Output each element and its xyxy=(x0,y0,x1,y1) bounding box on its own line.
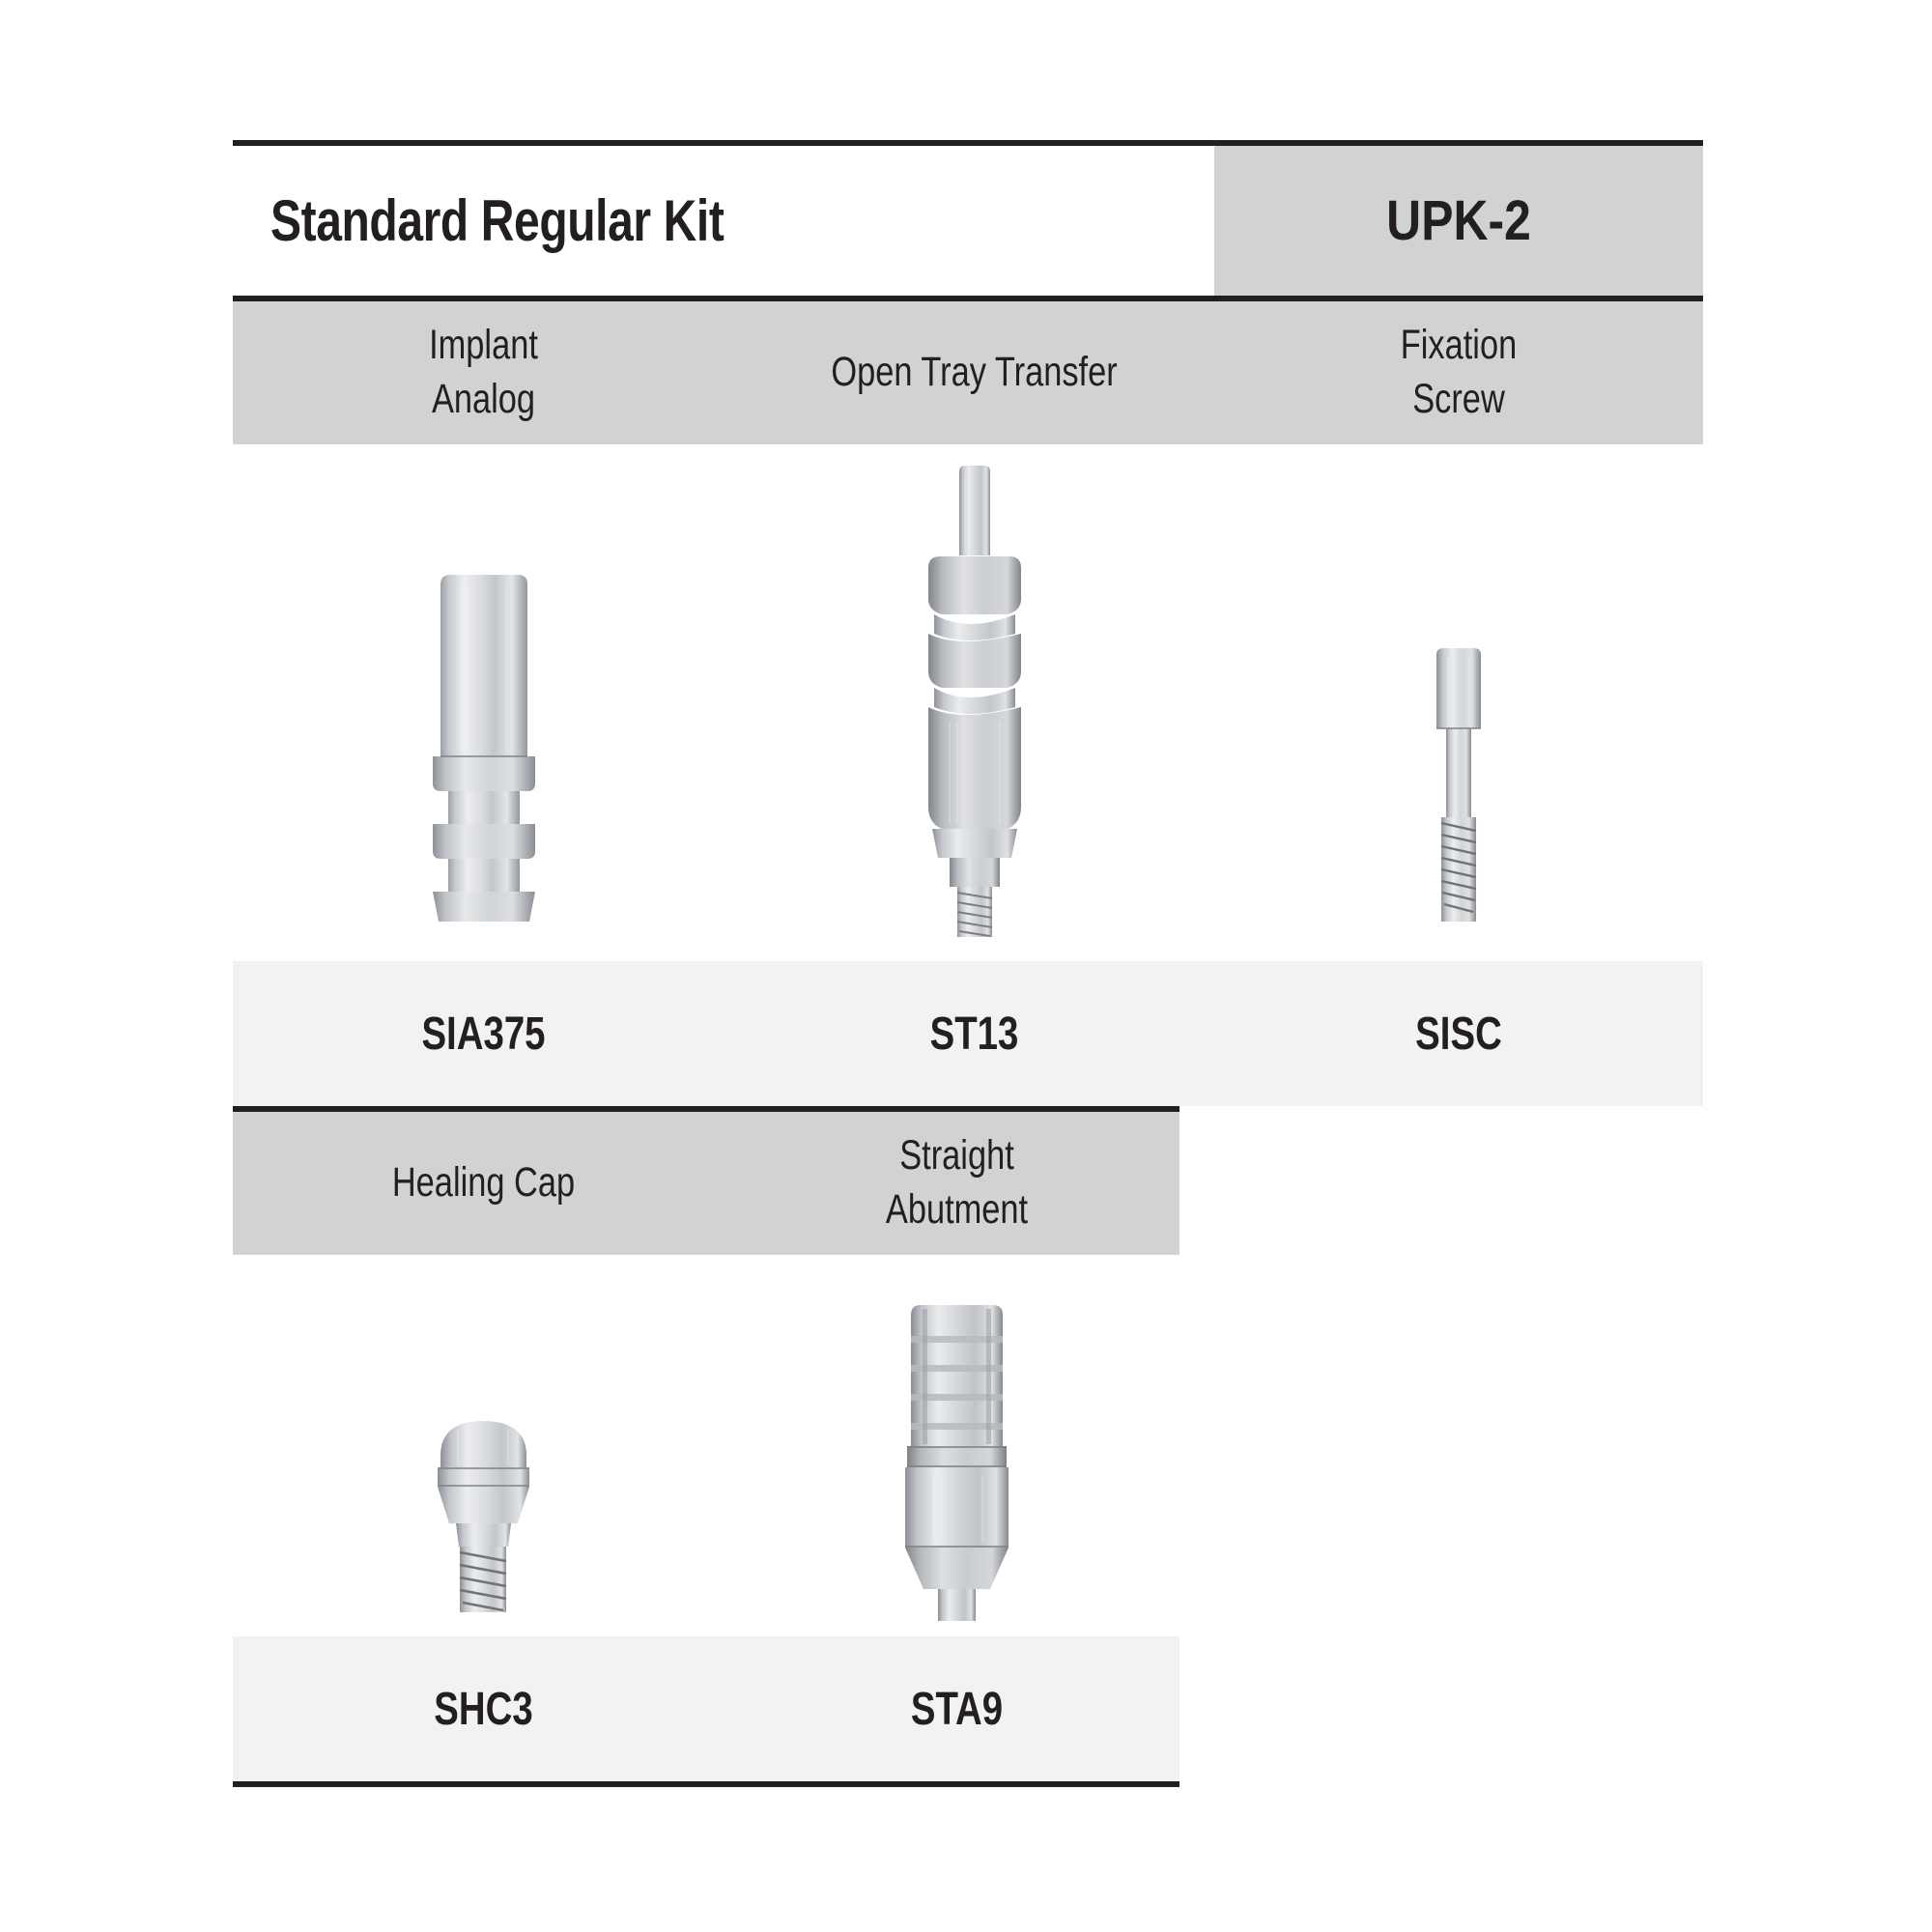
product-image-open-tray-transfer xyxy=(734,444,1214,961)
product-image-healing-cap xyxy=(233,1255,734,1636)
column-header-open-tray-transfer: Open Tray Transfer xyxy=(782,301,1167,444)
product-image-fixation-screw xyxy=(1214,444,1703,961)
fixation-screw-icon xyxy=(1425,645,1492,925)
product-code-st13: ST13 xyxy=(782,961,1167,1106)
column-header-band-1: Implant Analog Open Tray Transfer Fixati… xyxy=(233,301,1703,444)
header-line: Implant xyxy=(429,319,538,373)
header-line: Straight xyxy=(899,1129,1014,1183)
implant-analog-icon xyxy=(421,573,547,925)
column-header-band-2: Healing Cap Straight Abutment xyxy=(233,1112,1179,1255)
rule-bottom xyxy=(233,1781,1179,1787)
open-tray-transfer-icon xyxy=(907,464,1042,942)
page-title: Standard Regular Kit xyxy=(270,146,724,296)
product-image-band-2 xyxy=(233,1255,1703,1636)
product-code-sisc: SISC xyxy=(1264,961,1655,1106)
straight-abutment-icon xyxy=(892,1301,1022,1625)
header-line: Screw xyxy=(1412,373,1505,427)
product-image-band-1 xyxy=(233,444,1703,961)
product-image-straight-abutment xyxy=(734,1255,1179,1636)
header-line: Fixation xyxy=(1401,319,1517,373)
product-code-sia375: SIA375 xyxy=(283,961,684,1106)
header-line: Analog xyxy=(432,373,535,427)
product-kit-sheet: Standard Regular Kit UPK-2 Implant Analo… xyxy=(0,0,1932,1932)
column-header-healing-cap: Healing Cap xyxy=(283,1112,684,1255)
code-band-2: SHC3 STA9 xyxy=(233,1636,1179,1781)
product-code-sta9: STA9 xyxy=(779,1636,1135,1781)
header-line: Abutment xyxy=(886,1183,1028,1237)
product-image-implant-analog xyxy=(233,444,734,961)
kit-code: UPK-2 xyxy=(1248,146,1668,296)
kit-table: Standard Regular Kit UPK-2 Implant Analo… xyxy=(233,140,1703,1781)
title-row: Standard Regular Kit UPK-2 xyxy=(233,146,1703,296)
column-header-fixation-screw: Fixation Screw xyxy=(1264,301,1655,444)
code-band-1: SIA375 ST13 SISC xyxy=(233,961,1703,1106)
column-header-implant-analog: Implant Analog xyxy=(283,301,684,444)
header-line: Healing Cap xyxy=(392,1156,575,1210)
healing-cap-icon xyxy=(423,1409,544,1617)
header-line: Open Tray Transfer xyxy=(831,346,1117,400)
product-code-shc3: SHC3 xyxy=(283,1636,684,1781)
column-header-straight-abutment: Straight Abutment xyxy=(779,1112,1135,1255)
